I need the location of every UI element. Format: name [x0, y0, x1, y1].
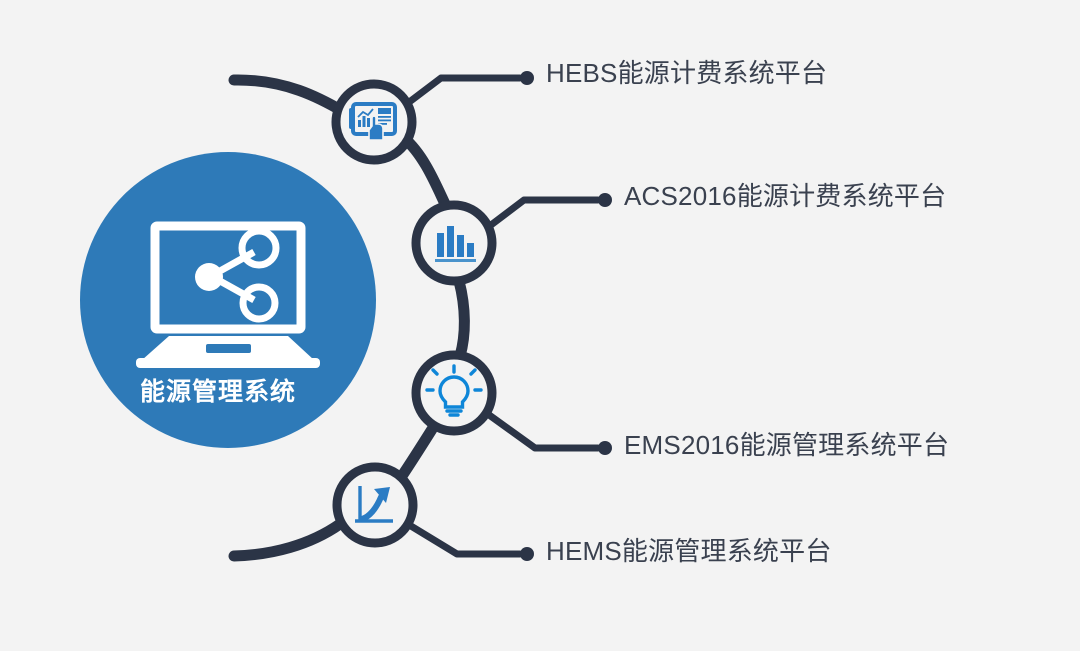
hub-title: 能源管理系统: [140, 372, 296, 408]
spine-segment-1-2: [404, 138, 446, 206]
diagram-svg: [0, 0, 1080, 651]
spine-segment-3-4: [402, 423, 436, 476]
branch-dot-hems: [520, 547, 534, 561]
node-hems[interactable]: [337, 467, 413, 543]
spine-segment-2-3: [459, 281, 464, 356]
label-acs2016[interactable]: ACS2016能源计费系统平台: [624, 183, 946, 209]
branch-dot-acs2016: [598, 193, 612, 207]
branch-dot-ems2016: [598, 441, 612, 455]
branch-line-hebs: [404, 78, 520, 106]
label-hems[interactable]: HEMS能源管理系统平台: [546, 538, 832, 564]
branch-line-hems: [406, 523, 520, 554]
label-ems2016[interactable]: EMS2016能源管理系统平台: [624, 432, 949, 458]
diagram-canvas: 能源管理系统 HEBS能源计费系统平台 ACS2016能源计费系统平台 EMS2…: [0, 0, 1080, 651]
branch-line-ems2016: [485, 412, 598, 448]
connector-branches: [404, 71, 612, 561]
node-hebs[interactable]: [336, 84, 412, 160]
node-acs2016[interactable]: [416, 205, 492, 281]
label-hebs[interactable]: HEBS能源计费系统平台: [546, 60, 827, 86]
branch-dot-hebs: [520, 71, 534, 85]
spine-segment-top-tail: [234, 80, 344, 112]
node-ems2016[interactable]: [416, 355, 492, 431]
branch-line-acs2016: [487, 200, 598, 228]
spine-segment-bottom-tail: [234, 524, 340, 556]
